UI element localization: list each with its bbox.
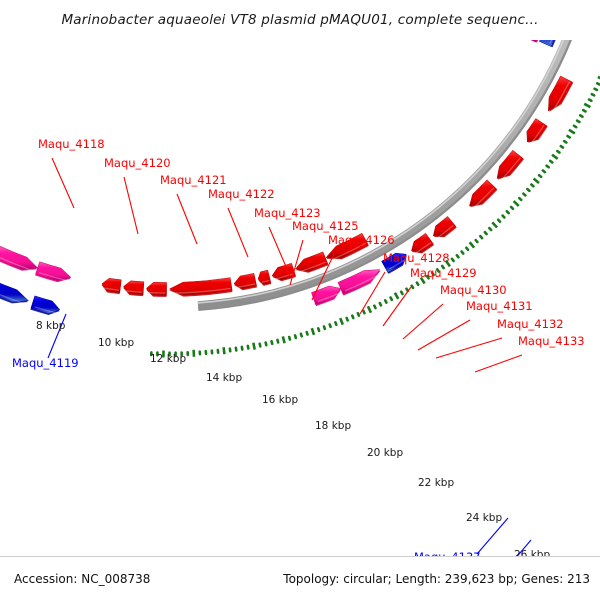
ruler-tick-label: 14 kbp	[206, 372, 242, 384]
gene-label[interactable]: Maqu_4122	[208, 187, 275, 201]
gene-label[interactable]: Maqu_4119	[12, 356, 79, 370]
ruler-tick-label: 26 kbp	[514, 549, 550, 556]
page-title: Marinobacter aquaeolei VT8 plasmid pMAQU…	[61, 12, 538, 28]
gene-feature-f24[interactable]	[0, 280, 28, 305]
gene-label[interactable]: Maqu_4131	[466, 299, 533, 313]
gene-label[interactable]: Maqu_4128	[383, 251, 450, 265]
gene-label[interactable]: Maqu_4126	[328, 233, 395, 247]
genome-browser-window: Marinobacter aquaeolei VT8 plasmid pMAQU…	[0, 0, 600, 600]
gene-feature-f17[interactable]	[258, 270, 271, 286]
gene-label[interactable]: Maqu_4121	[160, 173, 227, 187]
gene-label[interactable]: Maqu_4125	[292, 219, 359, 233]
gene-label[interactable]: Maqu_4129	[410, 266, 477, 280]
ruler-tick-label: 22 kbp	[418, 477, 454, 489]
genome-map-canvas[interactable]: 8 kbp10 kbp12 kbp14 kbp16 kbp18 kbp20 kb…	[0, 40, 600, 556]
gene-label[interactable]: Maqu_4118	[38, 137, 105, 151]
ruler-tick-label: 18 kbp	[315, 420, 351, 432]
ruler-tick-label: 8 kbp	[36, 320, 66, 332]
gene-leader-maqu_4120	[124, 177, 138, 234]
gene-label[interactable]: Maqu_4123	[254, 206, 321, 220]
gene-leader-maqu_4131	[418, 320, 470, 350]
gene-feature-f13[interactable]	[311, 286, 341, 306]
topology-summary-text: Topology: circular; Length: 239,623 bp; …	[283, 572, 590, 586]
ruler-tick-labels: 8 kbp10 kbp12 kbp14 kbp16 kbp18 kbp20 kb…	[36, 320, 592, 556]
status-bar: Accession: NC_008738 Topology: circular;…	[0, 556, 600, 601]
gene-feature-f23[interactable]	[30, 296, 59, 315]
gene-feature-f09[interactable]	[433, 216, 456, 237]
accession-text: Accession: NC_008738	[14, 572, 150, 586]
gene-feature-f19[interactable]	[169, 278, 232, 297]
gene-feature-f20[interactable]	[146, 282, 166, 297]
gene-feature-f22[interactable]	[102, 278, 122, 294]
gene-leader-maqu_4122	[228, 208, 248, 257]
gene-label[interactable]: Maqu_4130	[440, 283, 507, 297]
gene-feature-f06[interactable]	[527, 118, 548, 142]
gene-leader-maqu_4130	[403, 304, 443, 339]
ruler-tick-label: 12 kbp	[150, 353, 186, 365]
gene-leader-maqu_4118	[52, 158, 74, 208]
circular-genome-plot[interactable]: 8 kbp10 kbp12 kbp14 kbp16 kbp18 kbp20 kb…	[0, 40, 600, 556]
gene-feature-f21[interactable]	[123, 281, 144, 296]
gene-leader-maqu_4121	[177, 194, 197, 244]
ruler-tick-label: 10 kbp	[98, 337, 134, 349]
gene-leader-maqu_4133	[475, 355, 522, 372]
gene-features-layer[interactable]	[0, 40, 600, 315]
gene-label[interactable]: Maqu_4120	[104, 156, 171, 170]
title-bar: Marinobacter aquaeolei VT8 plasmid pMAQU…	[0, 0, 600, 40]
gene-feature-f27[interactable]	[0, 246, 38, 271]
ruler-tick-label: 20 kbp	[367, 447, 403, 459]
gene-leader-maqu_4132	[436, 338, 502, 358]
gene-label[interactable]: Maqu_4133	[518, 334, 585, 348]
ruler-tick-label: 24 kbp	[466, 512, 502, 524]
gene-feature-f26[interactable]	[35, 262, 71, 282]
gene-feature-f15[interactable]	[296, 252, 329, 273]
ruler-tick-label: 16 kbp	[262, 394, 298, 406]
gene-feature-f18[interactable]	[234, 273, 257, 290]
gene-leader-maqu_4129	[383, 287, 411, 326]
gene-label[interactable]: Maqu_4132	[497, 317, 564, 331]
